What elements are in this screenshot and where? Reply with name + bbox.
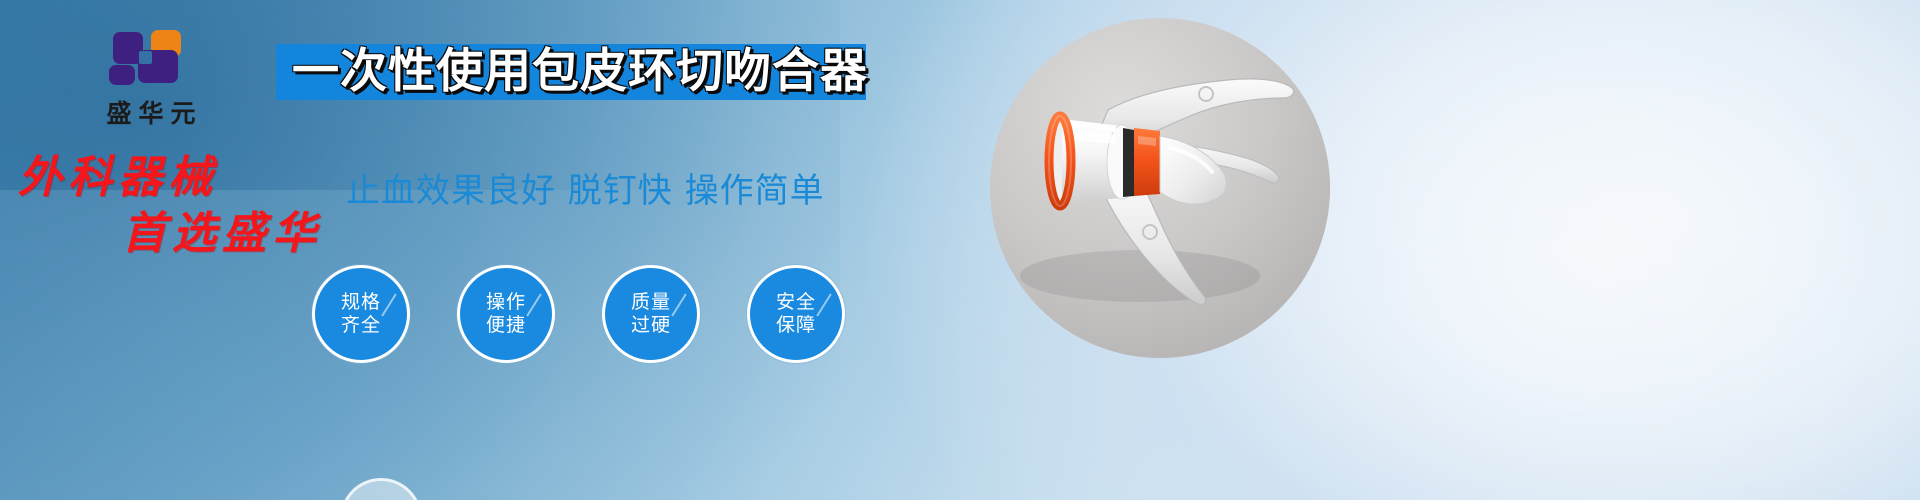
badge-slash-icon xyxy=(816,293,831,316)
subtitle: 止血效果良好 脱钉快 操作简单 xyxy=(346,163,825,212)
logo-notch xyxy=(139,51,152,64)
page-title: 一次性使用包皮环切吻合器 xyxy=(292,42,892,102)
badge-slash-icon xyxy=(381,293,396,316)
decorative-circle xyxy=(340,478,422,500)
badge-line-2: 齐全 xyxy=(341,314,381,337)
calligraphy-line-2: 首选盛华 xyxy=(122,206,358,262)
feature-badge-safety[interactable]: 安全 保障 xyxy=(747,265,845,363)
badge-line-2: 过硬 xyxy=(631,314,671,337)
feature-badge-list: 规格 齐全 操作 便捷 质量 过硬 安全 保障 xyxy=(312,265,845,363)
badge-line-1: 规格 xyxy=(341,291,381,314)
logo-mark-icon xyxy=(105,28,197,86)
badge-slash-icon xyxy=(671,293,686,316)
badge-line-1: 质量 xyxy=(631,291,671,314)
logo-square-purple-bottom xyxy=(109,65,135,85)
feature-badge-specs[interactable]: 规格 齐全 xyxy=(312,265,410,363)
feature-badge-operation[interactable]: 操作 便捷 xyxy=(457,265,555,363)
feature-badge-quality[interactable]: 质量 过硬 xyxy=(602,265,700,363)
calligraphy-slogan: 外科器械 首选盛华 xyxy=(18,150,358,262)
calligraphy-line-1: 外科器械 xyxy=(18,150,358,206)
product-illustration xyxy=(990,18,1330,358)
badge-line-1: 操作 xyxy=(486,291,526,314)
badge-line-2: 保障 xyxy=(776,314,816,337)
company-logo[interactable]: 盛华元 xyxy=(66,28,236,124)
badge-line-1: 安全 xyxy=(776,291,816,314)
logo-company-name: 盛华元 xyxy=(66,94,236,130)
promo-banner: 盛华元 一次性使用包皮环切吻合器 外科器械 首选盛华 止血效果良好 脱钉快 操作… xyxy=(0,0,1920,500)
badge-line-2: 便捷 xyxy=(486,314,526,337)
product-image[interactable] xyxy=(990,18,1330,358)
badge-slash-icon xyxy=(526,293,541,316)
